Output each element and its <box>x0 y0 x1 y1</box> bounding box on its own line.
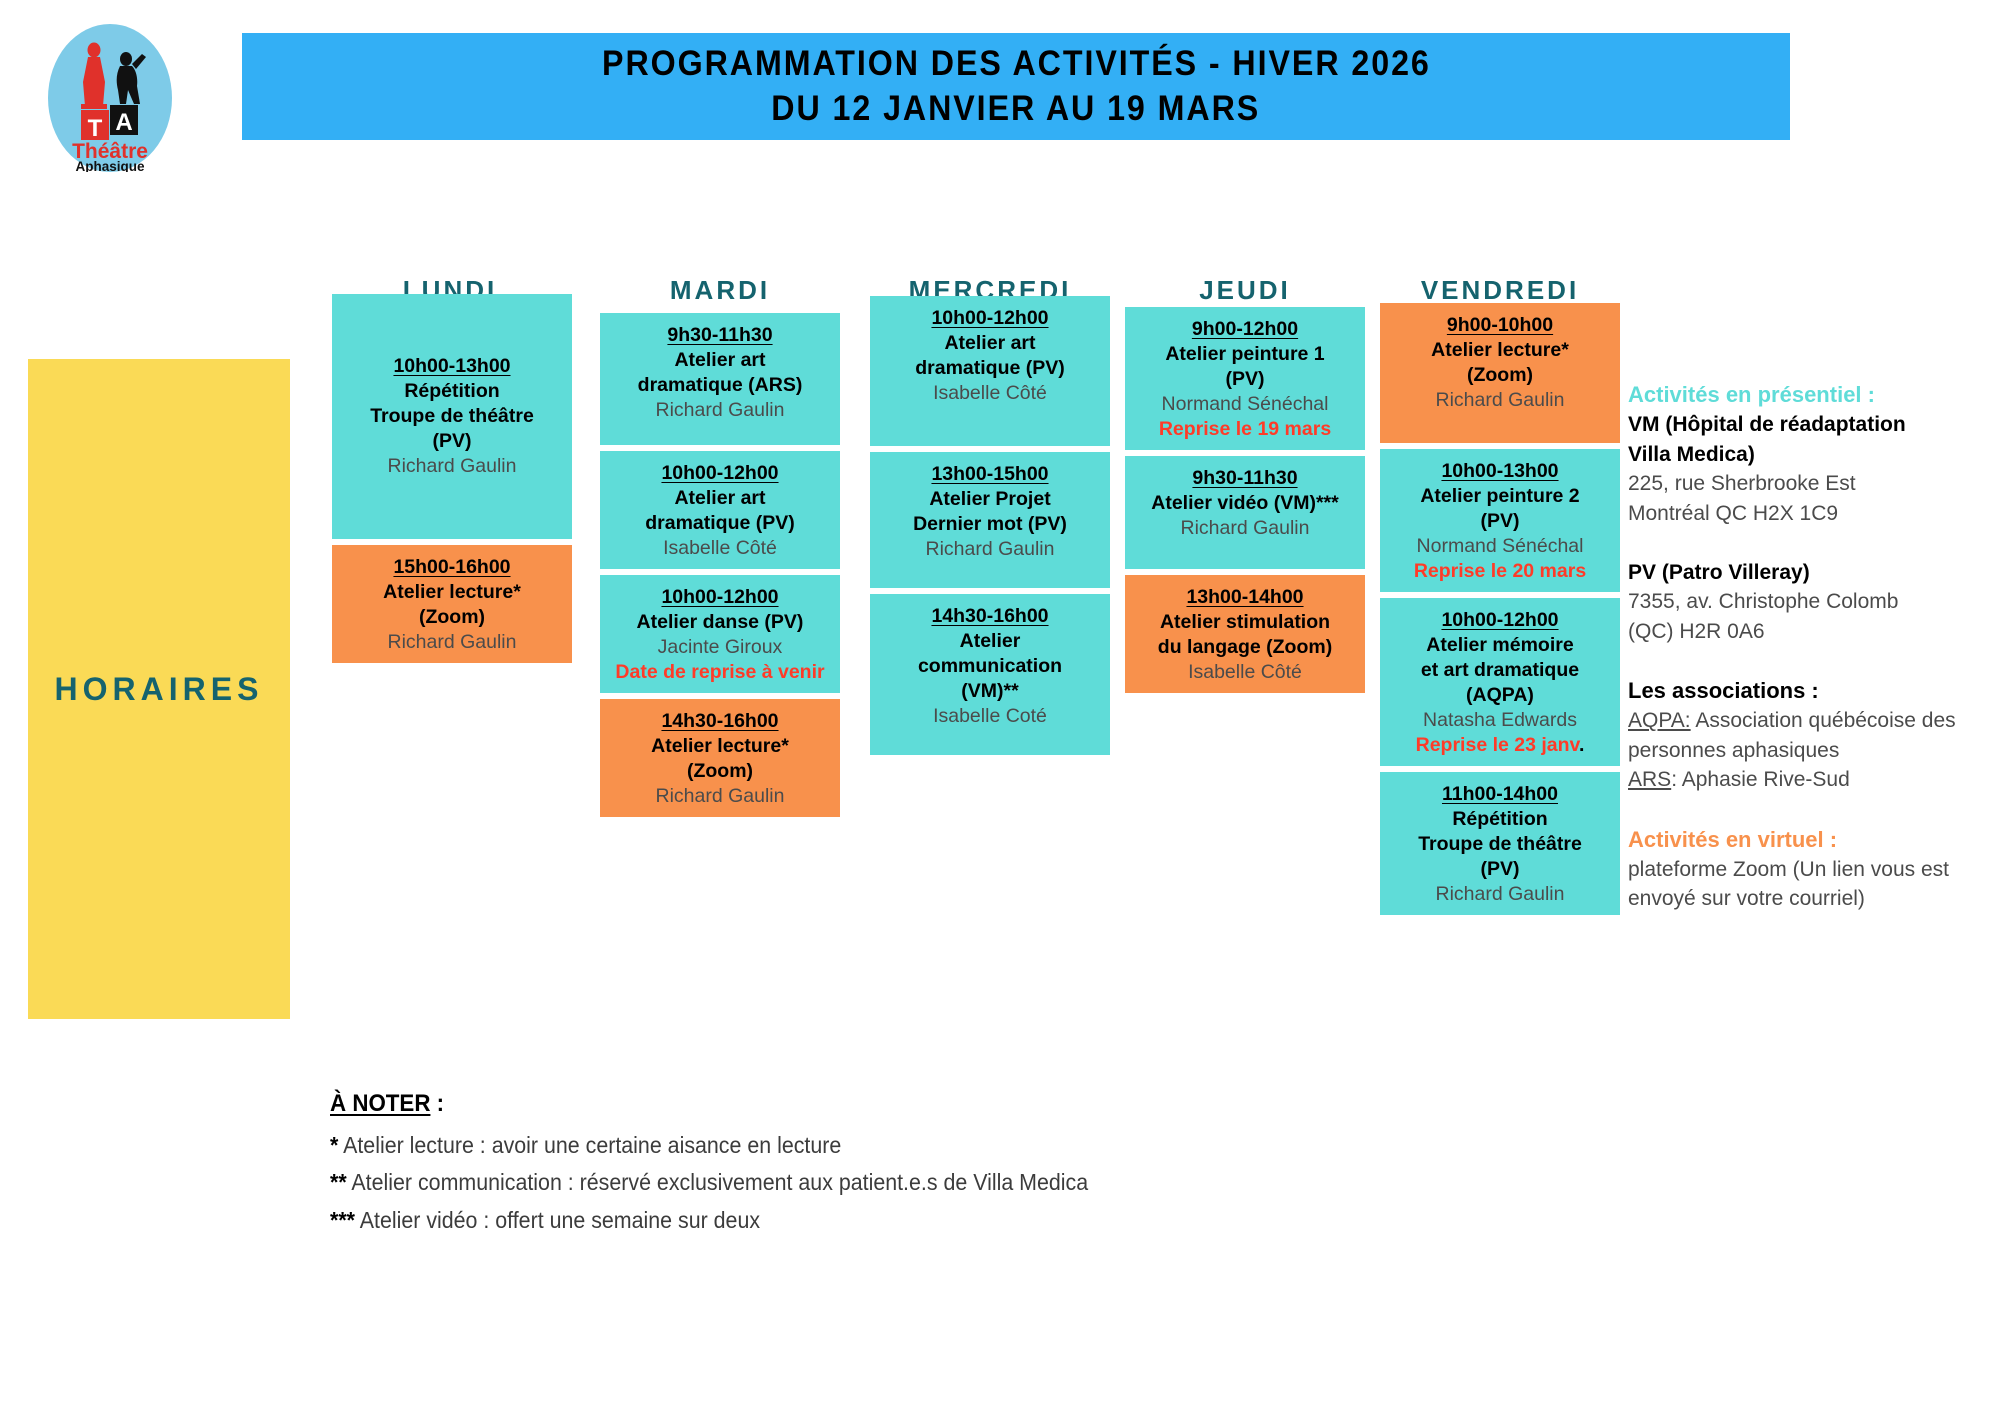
cell-title: dramatique (PV) <box>876 356 1104 381</box>
schedule-cell: 10h00-12h00Atelier danse (PV)Jacinte Gir… <box>600 575 840 693</box>
cell-time: 9h30-11h30 <box>1131 466 1359 491</box>
legend-aqpa-abbr: AQPA: <box>1628 709 1691 732</box>
legend-heading-associations: Les associations : <box>1628 676 1988 706</box>
cell-title: du langage (Zoom) <box>1131 635 1359 660</box>
theatre-aphasique-logo: T A Théâtre Aphasique <box>48 24 172 172</box>
cell-facilitator: Richard Gaulin <box>606 784 834 809</box>
legend-spacer-3 <box>1628 795 1988 825</box>
cell-title: (Zoom) <box>338 605 566 630</box>
horaires-sidebar: HORAIRES <box>28 359 290 1019</box>
header-title-line2: DU 12 JANVIER AU 19 MARS <box>772 87 1261 132</box>
cell-title: (PV) <box>1131 367 1359 392</box>
cell-time: 14h30-16h00 <box>606 709 834 734</box>
schedule-cell: 10h00-13h00RépétitionTroupe de théâtre(P… <box>332 294 572 539</box>
schedule-cell: 14h30-16h00Atelier lecture*(Zoom)Richard… <box>600 699 840 817</box>
schedule-cell: 14h30-16h00Ateliercommunication(VM)**Isa… <box>870 594 1110 755</box>
cell-title: (VM)** <box>876 679 1104 704</box>
cell-facilitator: Richard Gaulin <box>338 630 566 655</box>
cell-title: Atelier danse (PV) <box>606 610 834 635</box>
schedule-cell: 13h00-14h00Atelier stimulationdu langage… <box>1125 575 1365 693</box>
cell-facilitator: Normand Sénéchal <box>1131 392 1359 417</box>
schedule-cell: 9h30-11h30Atelier vidéo (VM)***Richard G… <box>1125 456 1365 569</box>
cell-title: communication <box>876 654 1104 679</box>
cell-note: Date de reprise à venir <box>606 660 834 685</box>
cell-facilitator: Jacinte Giroux <box>606 635 834 660</box>
footnote-text: Atelier communication : réservé exclusiv… <box>347 1169 1088 1195</box>
schedule-cell: 11h00-14h00RépétitionTroupe de théâtre(P… <box>1380 772 1620 915</box>
cell-title: Atelier mémoire <box>1386 633 1614 658</box>
cell-time: 9h00-12h00 <box>1131 317 1359 342</box>
cell-title: Atelier peinture 2 <box>1386 484 1614 509</box>
logo-artwork-icon: T A Théâtre Aphasique <box>48 24 172 172</box>
cell-time: 10h00-12h00 <box>876 306 1104 331</box>
cell-facilitator: Isabelle Côté <box>1131 660 1359 685</box>
cell-facilitator: Isabelle Côté <box>876 381 1104 406</box>
schedule-cell: 13h00-15h00Atelier ProjetDernier mot (PV… <box>870 452 1110 588</box>
cell-facilitator: Natasha Edwards <box>1386 708 1614 733</box>
footnote-marker: *** <box>330 1207 355 1233</box>
footnote-text: Atelier lecture : avoir une certaine ais… <box>338 1132 841 1158</box>
logo-letter-t: T <box>88 115 103 142</box>
cell-title: Atelier peinture 1 <box>1131 342 1359 367</box>
schedule-cell: 10h00-12h00Atelier artdramatique (PV)Isa… <box>870 296 1110 446</box>
cell-title: (PV) <box>1386 509 1614 534</box>
legend-vm-address-line1: 225, rue Sherbrooke Est <box>1628 469 1988 498</box>
cell-title: dramatique (ARS) <box>606 373 834 398</box>
legend-ars-abbr: ARS <box>1628 768 1671 791</box>
cell-note: Reprise le 20 mars <box>1386 559 1614 584</box>
cell-time: 14h30-16h00 <box>876 604 1104 629</box>
schedule-cell: 10h00-12h00Atelier artdramatique (PV)Isa… <box>600 451 840 569</box>
schedule-cell: 10h00-13h00Atelier peinture 2(PV)Normand… <box>1380 449 1620 592</box>
cell-title: Atelier art <box>606 348 834 373</box>
schedule-poster: T A Théâtre Aphasique PROGRAMMATION DES … <box>0 0 2000 1414</box>
day-header-jeudi: JEUDI <box>1125 275 1365 306</box>
cell-time: 11h00-14h00 <box>1386 782 1614 807</box>
cell-note-tail: . <box>1579 734 1584 756</box>
legend-spacer-2 <box>1628 646 1988 676</box>
legend-vm-name: VM (Hôpital de réadaptation Villa Medica… <box>1628 410 1988 469</box>
cell-title: dramatique (PV) <box>606 511 834 536</box>
cell-title: Atelier lecture* <box>606 734 834 759</box>
cell-time: 10h00-12h00 <box>606 585 834 610</box>
footnotes-title-colon: : <box>430 1090 444 1117</box>
legend-heading-virtuel: Activités en virtuel : <box>1628 825 1988 855</box>
cell-title: Atelier stimulation <box>1131 610 1359 635</box>
logo-word-aphasique: Aphasique <box>75 159 145 172</box>
legend-ars-entry: ARS: Aphasie Rive-Sud <box>1628 765 1988 794</box>
cell-title: Atelier art <box>606 486 834 511</box>
cell-time: 9h00-10h00 <box>1386 313 1614 338</box>
schedule-cell: 10h00-12h00Atelier mémoireet art dramati… <box>1380 598 1620 766</box>
day-header-mardi: MARDI <box>600 275 840 306</box>
cell-note: Reprise le 19 mars <box>1131 417 1359 442</box>
cell-title: (PV) <box>338 429 566 454</box>
schedule-cell: 9h30-11h30Atelier artdramatique (ARS)Ric… <box>600 313 840 445</box>
cell-time: 13h00-14h00 <box>1131 585 1359 610</box>
legend-heading-presentiel: Activités en présentiel : <box>1628 380 1988 410</box>
schedule-cell: 9h00-10h00Atelier lecture*(Zoom)Richard … <box>1380 303 1620 443</box>
legend-virtuel-text: plateforme Zoom (Un lien vous est envoyé… <box>1628 855 1988 914</box>
legend-panel: Activités en présentiel : VM (Hôpital de… <box>1628 380 1988 914</box>
cell-title: (Zoom) <box>1386 363 1614 388</box>
cell-facilitator: Richard Gaulin <box>606 398 834 423</box>
cell-facilitator: Richard Gaulin <box>1386 882 1614 907</box>
cell-title: (PV) <box>1386 857 1614 882</box>
footnotes-title-text: À NOTER <box>330 1090 430 1117</box>
cell-title: (AQPA) <box>1386 683 1614 708</box>
cell-facilitator: Richard Gaulin <box>1386 388 1614 413</box>
legend-pv-address-line1: 7355, av. Christophe Colomb <box>1628 587 1988 616</box>
day-header-vendredi: VENDREDI <box>1380 275 1620 306</box>
cell-title: Répétition <box>1386 807 1614 832</box>
cell-title: Atelier vidéo (VM)*** <box>1131 491 1359 516</box>
cell-time: 10h00-13h00 <box>338 354 566 379</box>
schedule-cell: 9h00-12h00Atelier peinture 1(PV)Normand … <box>1125 307 1365 450</box>
legend-vm-address-line2: Montréal QC H2X 1C9 <box>1628 499 1988 528</box>
schedule-cell: 15h00-16h00Atelier lecture*(Zoom)Richard… <box>332 545 572 663</box>
footnotes-section: À NOTER : * Atelier lecture : avoir une … <box>330 1090 1530 1239</box>
cell-title: Atelier <box>876 629 1104 654</box>
cell-title: Répétition <box>338 379 566 404</box>
cell-facilitator: Richard Gaulin <box>338 454 566 479</box>
cell-facilitator: Richard Gaulin <box>1131 516 1359 541</box>
cell-facilitator: Isabelle Coté <box>876 704 1104 729</box>
cell-time: 10h00-12h00 <box>1386 608 1614 633</box>
cell-time: 9h30-11h30 <box>606 323 834 348</box>
header-title-line1: PROGRAMMATION DES ACTIVITÉS - HIVER 2026 <box>602 42 1431 87</box>
cell-time: 15h00-16h00 <box>338 555 566 580</box>
cell-title: Atelier Projet <box>876 487 1104 512</box>
cell-title: Atelier lecture* <box>1386 338 1614 363</box>
horaires-label: HORAIRES <box>55 671 264 708</box>
logo-letter-a: A <box>115 109 132 136</box>
cell-facilitator: Isabelle Côté <box>606 536 834 561</box>
cell-note: Reprise le 23 janv. <box>1386 733 1614 758</box>
cell-facilitator: Richard Gaulin <box>876 537 1104 562</box>
cell-title: Atelier lecture* <box>338 580 566 605</box>
cell-title: Troupe de théâtre <box>338 404 566 429</box>
footnote-text: Atelier vidéo : offert une semaine sur d… <box>355 1207 760 1233</box>
cell-title: Troupe de théâtre <box>1386 832 1614 857</box>
cell-title: Atelier art <box>876 331 1104 356</box>
legend-pv-name: PV (Patro Villeray) <box>1628 558 1988 587</box>
footnote-marker: * <box>330 1132 338 1158</box>
cell-title: Dernier mot (PV) <box>876 512 1104 537</box>
footnotes-title: À NOTER : <box>330 1090 1446 1118</box>
legend-pv-address-line2: (QC) H2R 0A6 <box>1628 617 1988 646</box>
cell-time: 13h00-15h00 <box>876 462 1104 487</box>
footnote-item: *** Atelier vidéo : offert une semaine s… <box>330 1202 1446 1239</box>
cell-time: 10h00-13h00 <box>1386 459 1614 484</box>
cell-title: et art dramatique <box>1386 658 1614 683</box>
footnote-item: ** Atelier communication : réservé exclu… <box>330 1164 1446 1201</box>
footnote-item: * Atelier lecture : avoir une certaine a… <box>330 1127 1446 1164</box>
cell-title: (Zoom) <box>606 759 834 784</box>
cell-time: 10h00-12h00 <box>606 461 834 486</box>
legend-spacer-1 <box>1628 528 1988 558</box>
footnote-marker: ** <box>330 1169 347 1195</box>
legend-aqpa-entry: AQPA: Association québécoise des personn… <box>1628 706 1988 765</box>
cell-facilitator: Normand Sénéchal <box>1386 534 1614 559</box>
header-banner: PROGRAMMATION DES ACTIVITÉS - HIVER 2026… <box>242 33 1790 140</box>
legend-ars-text: : Aphasie Rive-Sud <box>1671 768 1850 791</box>
